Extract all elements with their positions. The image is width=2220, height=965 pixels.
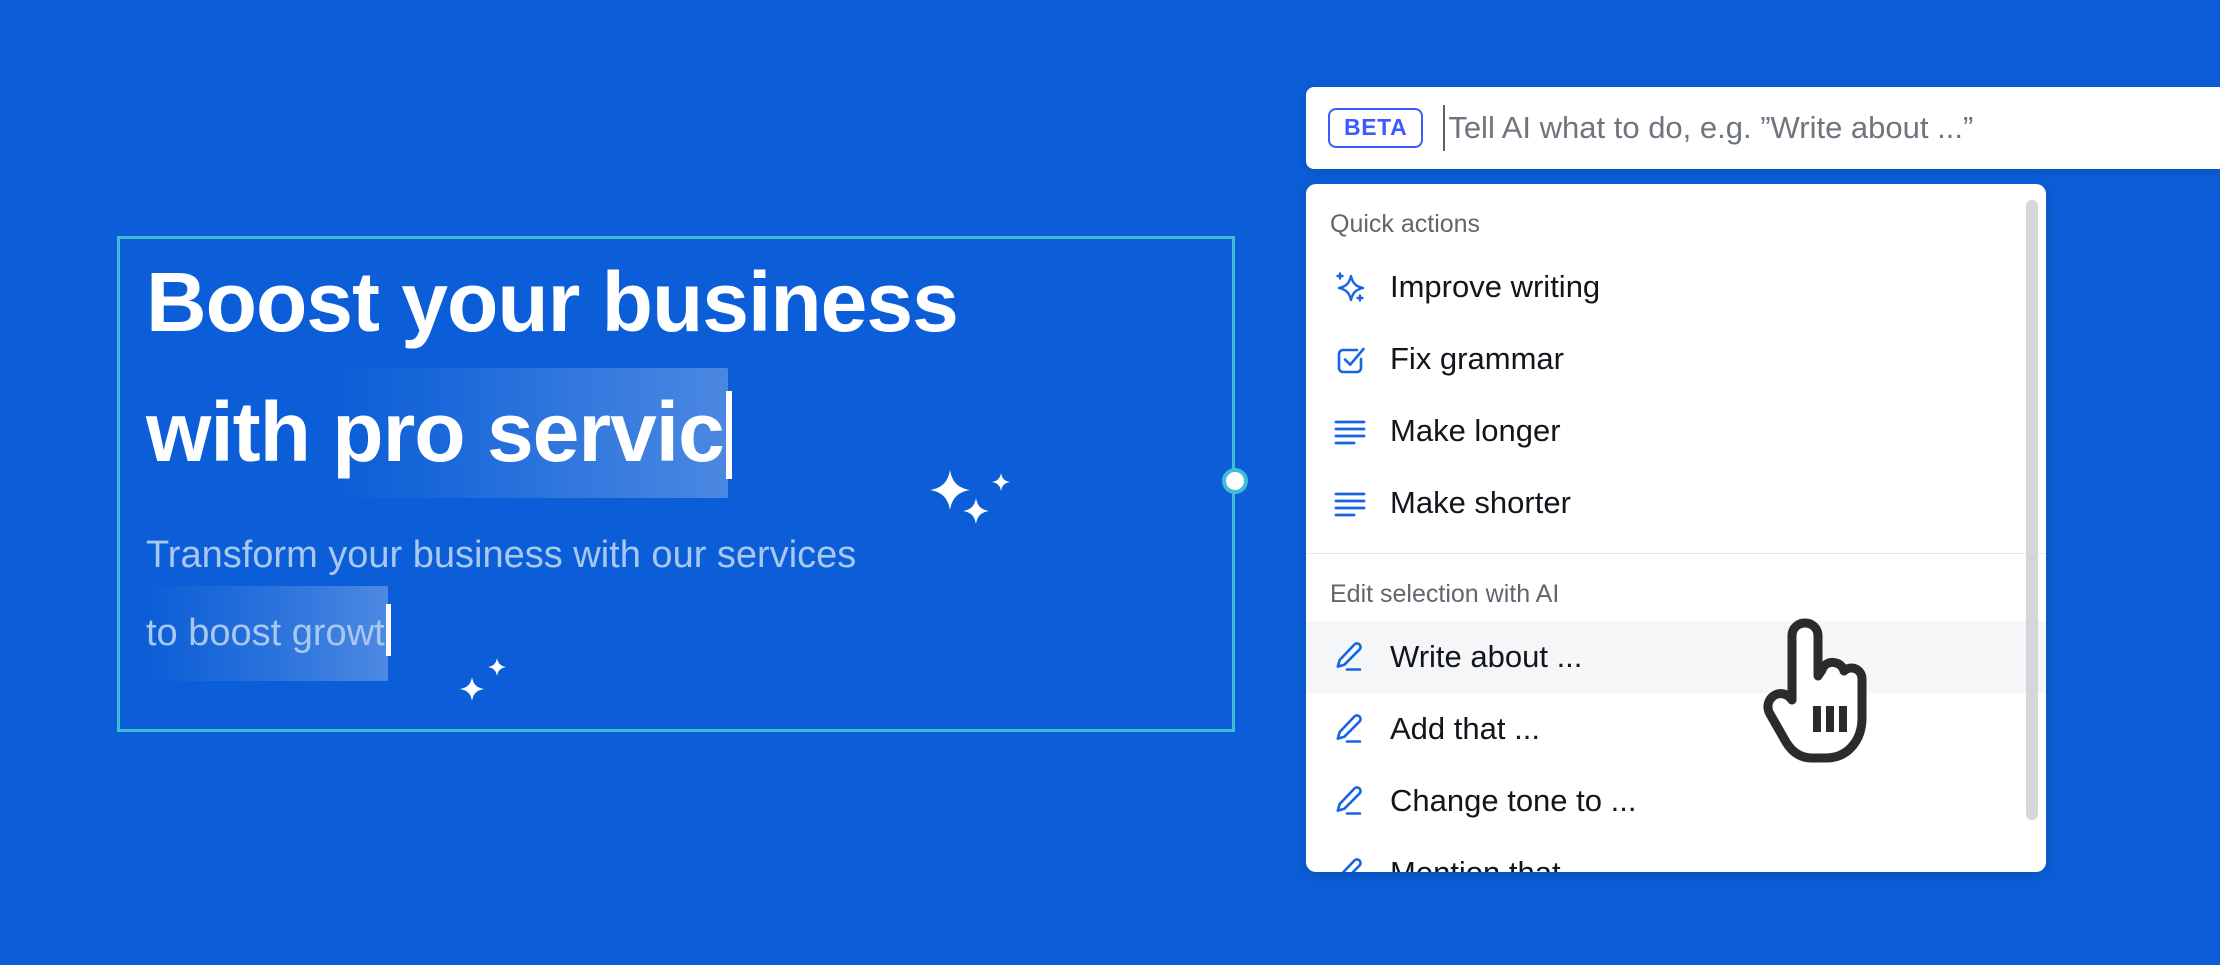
- menu-item-label: Add that ...: [1390, 711, 1540, 747]
- subheadline-line-1: Transform your business with our service…: [146, 534, 856, 576]
- menu-item-mention-that[interactable]: Mention that ...: [1306, 837, 2046, 872]
- checkbox-check-icon: [1330, 339, 1370, 379]
- beta-badge: BETA: [1328, 108, 1423, 148]
- menu-item-label: Fix grammar: [1390, 341, 1564, 377]
- menu-item-make-longer[interactable]: Make longer: [1306, 395, 2046, 467]
- menu-section-label-quick-actions: Quick actions: [1306, 184, 2046, 251]
- menu-item-label: Improve writing: [1390, 269, 1600, 305]
- menu-item-fix-grammar[interactable]: Fix grammar: [1306, 323, 2046, 395]
- headline-line-2-prefix: with: [146, 385, 332, 479]
- pencil-icon: [1330, 781, 1370, 821]
- menu-item-label: Mention that ...: [1390, 855, 1595, 872]
- pencil-icon: [1330, 853, 1370, 872]
- lines-icon: [1330, 411, 1370, 451]
- menu-section-label-edit-selection: Edit selection with AI: [1306, 554, 2046, 621]
- subheadline-line-2: to boost growt: [146, 604, 1216, 659]
- headline-selected-text: pro servic: [332, 385, 724, 479]
- pencil-icon: [1330, 709, 1370, 749]
- headline-line-2: with pro servic: [146, 386, 1216, 482]
- hero-headline[interactable]: Boost your business with pro servic: [146, 258, 1216, 482]
- subheadline-selected-text: to boost growt: [146, 612, 385, 654]
- text-caret-subheadline: [386, 604, 391, 656]
- resize-handle-right[interactable]: [1222, 468, 1248, 494]
- input-text-caret: [1443, 105, 1445, 151]
- app-canvas: Boost your business with pro servic Tran…: [0, 0, 2220, 965]
- text-caret-headline: [726, 391, 732, 479]
- menu-item-add-that[interactable]: Add that ...: [1306, 693, 2046, 765]
- menu-item-label: Change tone to ...: [1390, 783, 1636, 819]
- menu-item-improve-writing[interactable]: Improve writing: [1306, 251, 2046, 323]
- ai-prompt-input[interactable]: Tell AI what to do, e.g. ”Write about ..…: [1443, 105, 2220, 151]
- pencil-icon: [1330, 637, 1370, 677]
- menu-item-label: Make longer: [1390, 413, 1561, 449]
- ai-actions-menu[interactable]: Quick actions Improve writing Fix gramma…: [1306, 184, 2046, 872]
- sparkle-icon: [1330, 267, 1370, 307]
- headline-selection-highlight: pro servic: [332, 386, 724, 482]
- lines-icon: [1330, 483, 1370, 523]
- ai-command-bar[interactable]: BETA Tell AI what to do, e.g. ”Write abo…: [1306, 87, 2220, 169]
- menu-item-label: Write about ...: [1390, 639, 1582, 675]
- menu-item-make-shorter[interactable]: Make shorter: [1306, 467, 2046, 539]
- menu-item-label: Make shorter: [1390, 485, 1571, 521]
- hero-subheadline[interactable]: Transform your business with our service…: [146, 530, 1216, 659]
- hero-text-block[interactable]: Boost your business with pro servic Tran…: [146, 258, 1216, 659]
- menu-item-change-tone-to[interactable]: Change tone to ...: [1306, 765, 2046, 837]
- subheadline-selection-highlight: to boost growt: [146, 608, 385, 659]
- ai-prompt-placeholder: Tell AI what to do, e.g. ”Write about ..…: [1448, 110, 1973, 146]
- headline-line-1: Boost your business: [146, 255, 958, 349]
- menu-item-write-about[interactable]: Write about ...: [1306, 621, 2046, 693]
- menu-scrollbar-thumb[interactable]: [2026, 200, 2038, 820]
